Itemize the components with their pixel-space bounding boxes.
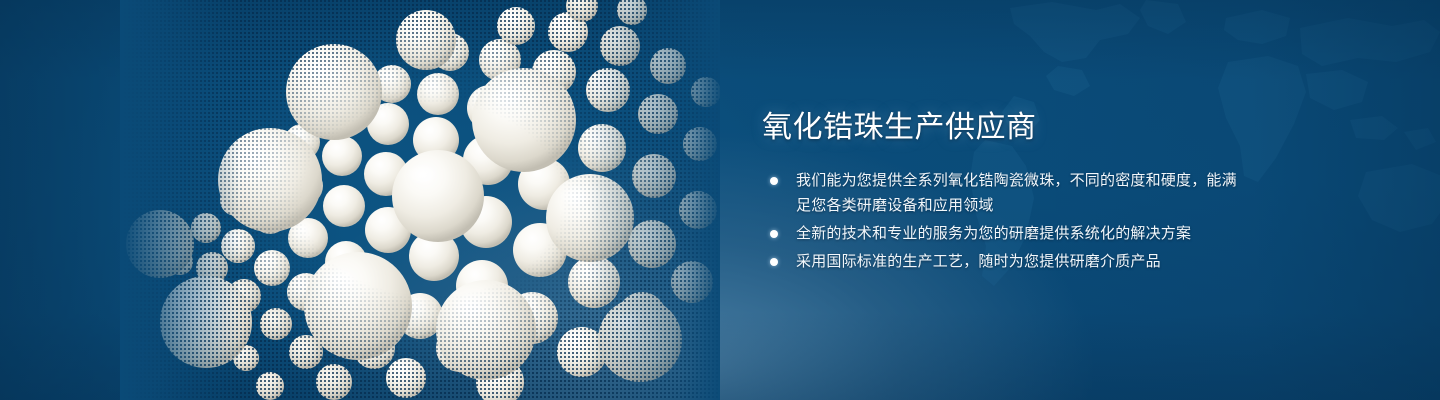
- list-item: 采用国际标准的生产工艺，随时为您提供研磨介质产品: [768, 249, 1238, 274]
- list-item-text: 采用国际标准的生产工艺，随时为您提供研磨介质产品: [796, 253, 1161, 270]
- list-item: 全新的技术和专业的服务为您的研磨提供系统化的解决方案: [768, 221, 1238, 246]
- banner-content: 氧化锆珠生产供应商 我们能为您提供全系列氧化锆陶瓷微珠，不同的密度和硬度，能满足…: [762, 0, 1262, 400]
- list-item-text: 全新的技术和专业的服务为您的研磨提供系统化的解决方案: [796, 225, 1191, 242]
- zirconia-beads-image: [120, 0, 720, 400]
- bullet-dot-icon: [770, 258, 778, 266]
- list-item: 我们能为您提供全系列氧化锆陶瓷微珠，不同的密度和硬度，能满足您各类研磨设备和应用…: [768, 168, 1238, 218]
- banner-headline: 氧化锆珠生产供应商: [762, 110, 1037, 146]
- hero-banner: 氧化锆珠生产供应商 我们能为您提供全系列氧化锆陶瓷微珠，不同的密度和硬度，能满足…: [0, 0, 1440, 400]
- bullet-dot-icon: [770, 230, 778, 238]
- banner-feature-list: 我们能为您提供全系列氧化锆陶瓷微珠，不同的密度和硬度，能满足您各类研磨设备和应用…: [768, 168, 1238, 277]
- bullet-dot-icon: [770, 177, 778, 185]
- list-item-text: 我们能为您提供全系列氧化锆陶瓷微珠，不同的密度和硬度，能满足您各类研磨设备和应用…: [796, 172, 1237, 214]
